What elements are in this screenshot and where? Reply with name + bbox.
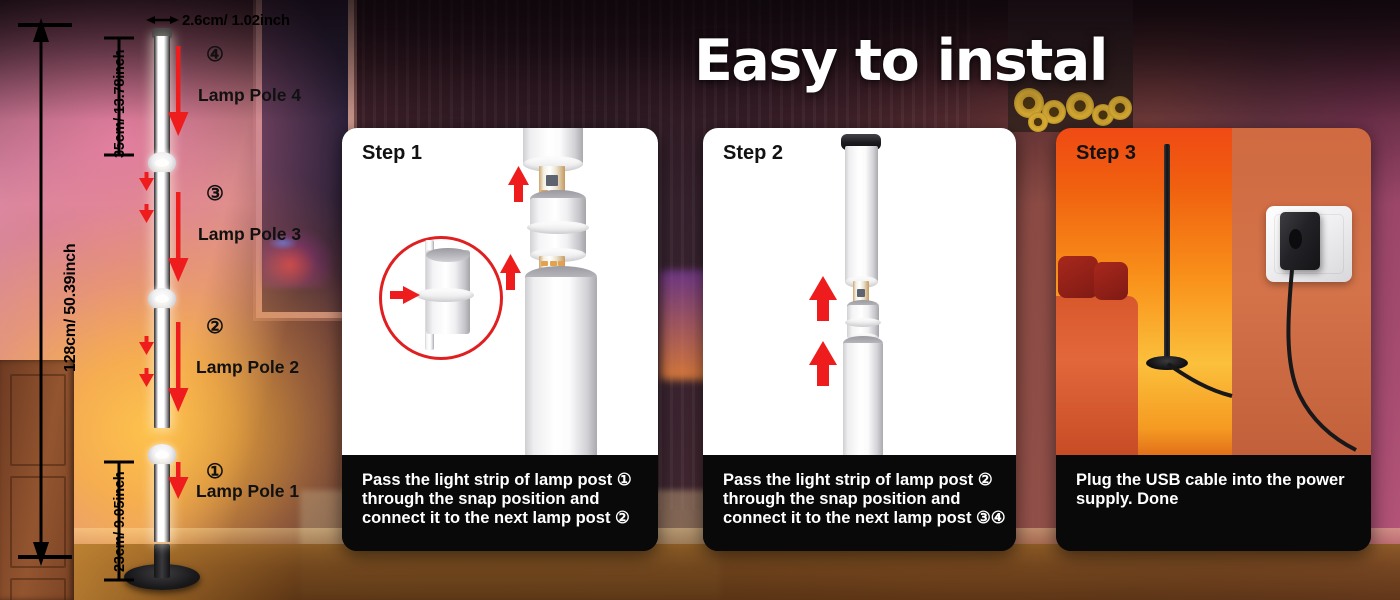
pole-label-3: Lamp Pole 3 — [198, 224, 301, 245]
base-section-label: 23cm/ 9.05inch — [112, 472, 128, 572]
lamp-neck — [154, 544, 170, 578]
pole-label-2: Lamp Pole 2 — [196, 357, 299, 378]
total-height-label: 128cm/ 50.39inch — [62, 244, 80, 372]
pole-label-4: Lamp Pole 4 — [198, 85, 301, 106]
step-1-illustration: Step 1 — [342, 128, 658, 455]
snap-position-arrow — [342, 128, 658, 455]
step-2-caption-line-2: through the snap position and — [723, 490, 998, 509]
pole-segment-4 — [154, 36, 170, 156]
pole-joint-12 — [148, 444, 176, 466]
step-2-illustration: Step 2 — [703, 128, 1016, 455]
infographic-root: 2.6cm/ 1.02inch 35cm/ 13.78inch 128cm/ 5… — [0, 0, 1400, 600]
step-3-caption-line-2: supply. Done — [1076, 490, 1353, 509]
step-1-caption-line-2: through the snap position and — [362, 490, 640, 509]
power-cable — [1056, 128, 1371, 455]
pole-number-2: ② — [206, 314, 224, 339]
pole-segment-1 — [154, 464, 170, 542]
step-1-caption: Pass the light strip of lamp post ① thro… — [342, 455, 658, 551]
width-dimension-label: 2.6cm/ 1.02inch — [182, 12, 290, 29]
pole-joint-23 — [148, 288, 176, 310]
step-3-caption-line-1: Plug the USB cable into the power — [1076, 471, 1353, 490]
step-3-card: Step 3 Plug the USB cable into the power… — [1056, 128, 1371, 551]
pole4-length-label: 35cm/ 13.78inch — [112, 50, 128, 158]
page-title: Easy to instal — [694, 28, 1107, 94]
dimension-diagram: 2.6cm/ 1.02inch 35cm/ 13.78inch 128cm/ 5… — [0, 0, 340, 600]
step-3-caption: Plug the USB cable into the power supply… — [1056, 455, 1371, 551]
step-1-caption-line-3: connect it to the next lamp post ② — [362, 509, 640, 528]
pole-segment-3 — [154, 172, 170, 292]
pole-joint-34 — [148, 152, 176, 174]
step-2-caption: Pass the light strip of lamp post ② thro… — [703, 455, 1016, 551]
step-3-photo: Step 3 — [1056, 128, 1371, 455]
pole-number-4: ④ — [206, 42, 224, 67]
step-1-label: Step 1 — [362, 142, 422, 165]
step-2-label: Step 2 — [723, 142, 783, 165]
step-2-card: Step 2 — [703, 128, 1016, 551]
step-1-caption-line-1: Pass the light strip of lamp post ① — [362, 471, 640, 490]
step-2-caption-line-1: Pass the light strip of lamp post ② — [723, 471, 998, 490]
insert-direction-arrows — [703, 128, 1016, 455]
pole-label-1: Lamp Pole 1 — [196, 481, 299, 502]
step-2-caption-line-3: connect it to the next lamp post ③④ — [723, 509, 998, 528]
pole-segment-2 — [154, 308, 170, 428]
step-1-card: Step 1 — [342, 128, 658, 551]
pole-number-3: ③ — [206, 181, 224, 206]
step-3-label: Step 3 — [1076, 142, 1136, 165]
